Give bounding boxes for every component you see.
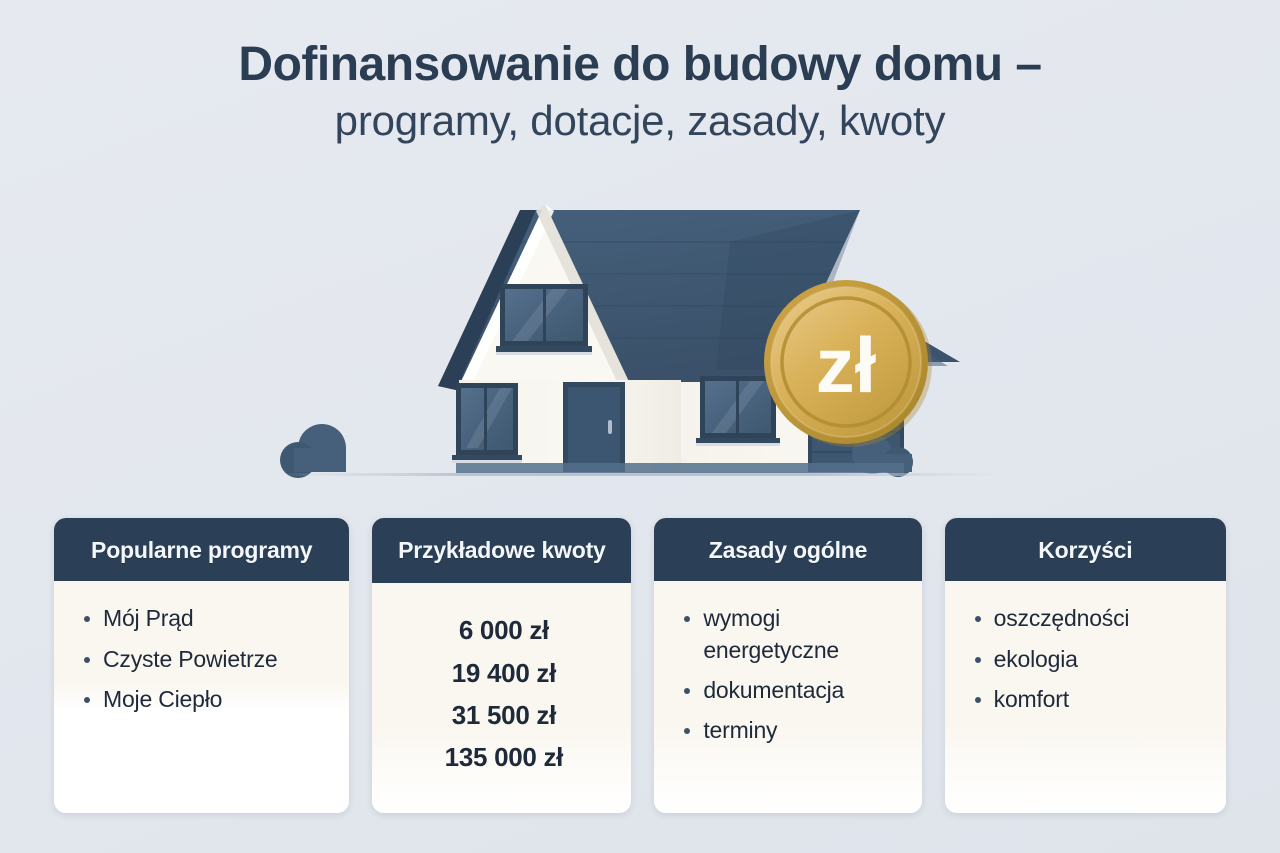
list-item: Mój Prąd [78,603,329,634]
bullet-list: wymogi energetyczne dokumentacja terminy [678,603,901,746]
title-line-2: programy, dotacje, zasady, kwoty [0,96,1280,146]
house-and-coin-graphic: zł [260,180,1020,500]
list-item: komfort [969,684,1206,715]
card-title: Przykładowe kwoty [372,518,631,583]
window-lower-left [452,383,522,463]
info-cards-row: Popularne programy Mój Prąd Czyste Powie… [54,518,1226,813]
bullet-list: oszczędności ekologia komfort [969,603,1206,715]
list-item: Czyste Powietrze [78,644,329,675]
list-item: ekologia [969,644,1206,675]
card-przykladowe-kwoty[interactable]: Przykładowe kwoty 6 000 zł 19 400 zł 31 … [372,518,631,813]
foundation [456,463,904,473]
list-item: terminy [678,715,901,746]
amount-value: 135 000 zł [396,736,611,778]
coin-currency-label: zł [816,321,877,409]
list-item: oszczędności [969,603,1206,634]
ground-line [280,473,1000,476]
card-body: Mój Prąd Czyste Powietrze Moje Ciepło [54,581,349,813]
title-line-1: Dofinansowanie do budowy domu – [0,38,1280,92]
card-popularne-programy[interactable]: Popularne programy Mój Prąd Czyste Powie… [54,518,349,813]
hero-illustration: zł [0,180,1280,500]
card-body: 6 000 zł 19 400 zł 31 500 zł 135 000 zł [372,583,631,813]
amount-value: 31 500 zł [396,694,611,736]
window-gable [496,284,592,355]
bullet-list: Mój Prąd Czyste Powietrze Moje Ciepło [78,603,329,715]
card-body: wymogi energetyczne dokumentacja terminy [654,581,921,813]
amounts-list: 6 000 zł 19 400 zł 31 500 zł 135 000 zł [396,609,611,777]
window-right-wing [696,376,780,446]
page-title: Dofinansowanie do budowy domu – programy… [0,38,1280,145]
front-door [563,382,625,472]
card-title: Zasady ogólne [654,518,921,581]
card-title: Popularne programy [54,518,349,581]
amount-value: 6 000 zł [396,609,611,651]
card-korzysci[interactable]: Korzyści oszczędności ekologia komfort [945,518,1226,813]
card-body: oszczędności ekologia komfort [945,581,1226,813]
list-item: wymogi energetyczne [678,603,901,666]
bush-left [280,424,346,478]
card-zasady-ogolne[interactable]: Zasady ogólne wymogi energetyczne dokume… [654,518,921,813]
amount-value: 19 400 zł [396,652,611,694]
card-title: Korzyści [945,518,1226,581]
list-item: Moje Ciepło [78,684,329,715]
list-item: dokumentacja [678,675,901,706]
